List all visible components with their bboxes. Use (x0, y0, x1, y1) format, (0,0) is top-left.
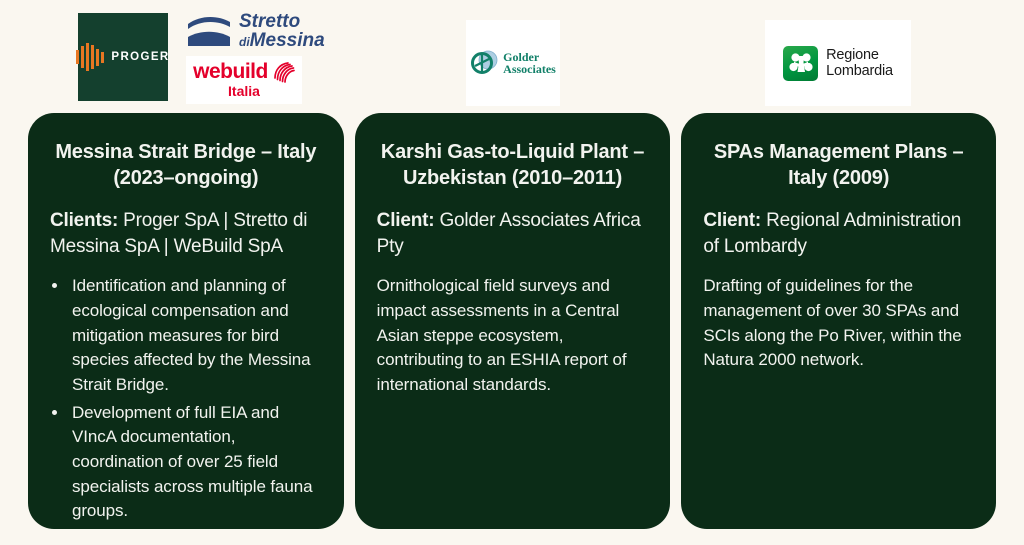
stretto-line-2: diMessina (239, 31, 325, 50)
card-client: Client: Regional Administration of Lomba… (703, 208, 974, 260)
card-bullet-list: Identification and planning of ecologica… (50, 274, 322, 523)
regione-logo-panel: Regione Lombardia (765, 20, 911, 106)
project-card-karshi: Karshi Gas-to-Liquid Plant – Uzbekistan … (355, 113, 671, 529)
proger-logo: PROGER (78, 13, 168, 101)
golder-globe-icon (470, 48, 500, 78)
golder-logo-panel: Golder Associates (466, 20, 560, 106)
card-body: Ornithological field surveys and impact … (377, 274, 649, 397)
project-card-messina: Messina Strait Bridge – Italy (2023–ongo… (28, 113, 344, 529)
stretto-line-2-main: Messina (250, 30, 325, 51)
golder-associates-logo: Golder Associates (470, 48, 556, 78)
regione-rose-camuna-icon (783, 46, 818, 81)
rose-camuna-glyph (788, 50, 814, 76)
webuild-row: webuild (193, 61, 295, 83)
card-client-label: Client: (377, 210, 435, 231)
bridge-mark-icon (186, 13, 232, 49)
project-cards: Messina Strait Bridge – Italy (2023–ongo… (28, 113, 996, 529)
card-client: Client: Golder Associates Africa Pty (377, 208, 649, 260)
regione-lombardia-logo: Regione Lombardia (783, 46, 893, 81)
regione-wordmark: Regione Lombardia (826, 47, 893, 79)
stretto-di-messina-logo: Stretto diMessina (186, 10, 325, 52)
stretto-wordmark: Stretto diMessina (239, 12, 325, 50)
proger-bars-icon (76, 43, 104, 71)
card-client-label: Clients: (50, 210, 118, 231)
proger-wordmark: PROGER (111, 51, 169, 63)
list-item: Development of full EIA and VIncA docume… (69, 401, 322, 524)
logo-group-regione: Regione Lombardia (765, 20, 911, 106)
logo-stack-right: Stretto diMessina webuild (186, 10, 325, 104)
golder-wordmark: Golder Associates (503, 51, 556, 75)
stretto-line-2-prefix: di (239, 35, 250, 49)
card-body: Drafting of guidelines for the managemen… (703, 274, 974, 373)
webuild-logo: webuild Italia (186, 56, 302, 104)
regione-line-2: Lombardia (826, 63, 893, 79)
webuild-wordmark: webuild (193, 61, 268, 82)
stretto-line-1: Stretto (239, 12, 325, 31)
slide-root: PROGER Stretto diMessina webuild (0, 0, 1024, 545)
regione-line-1: Regione (826, 47, 893, 63)
card-client: Clients: Proger SpA | Stretto di Messina… (50, 208, 322, 260)
logo-strip: PROGER Stretto diMessina webuild (0, 0, 1024, 113)
card-title: Karshi Gas-to-Liquid Plant – Uzbekistan … (377, 139, 649, 191)
project-card-spas: SPAs Management Plans – Italy (2009) Cli… (681, 113, 996, 529)
webuild-subline: Italia (228, 84, 260, 99)
logo-group-messina-clients: PROGER Stretto diMessina webuild (78, 10, 325, 104)
golder-line-2: Associates (503, 63, 556, 75)
logo-group-golder: Golder Associates (466, 20, 560, 106)
list-item: Identification and planning of ecologica… (69, 274, 322, 397)
webuild-globe-icon (271, 61, 295, 83)
card-client-label: Client: (703, 210, 761, 231)
card-title: Messina Strait Bridge – Italy (2023–ongo… (50, 139, 322, 191)
card-title: SPAs Management Plans – Italy (2009) (703, 139, 974, 191)
